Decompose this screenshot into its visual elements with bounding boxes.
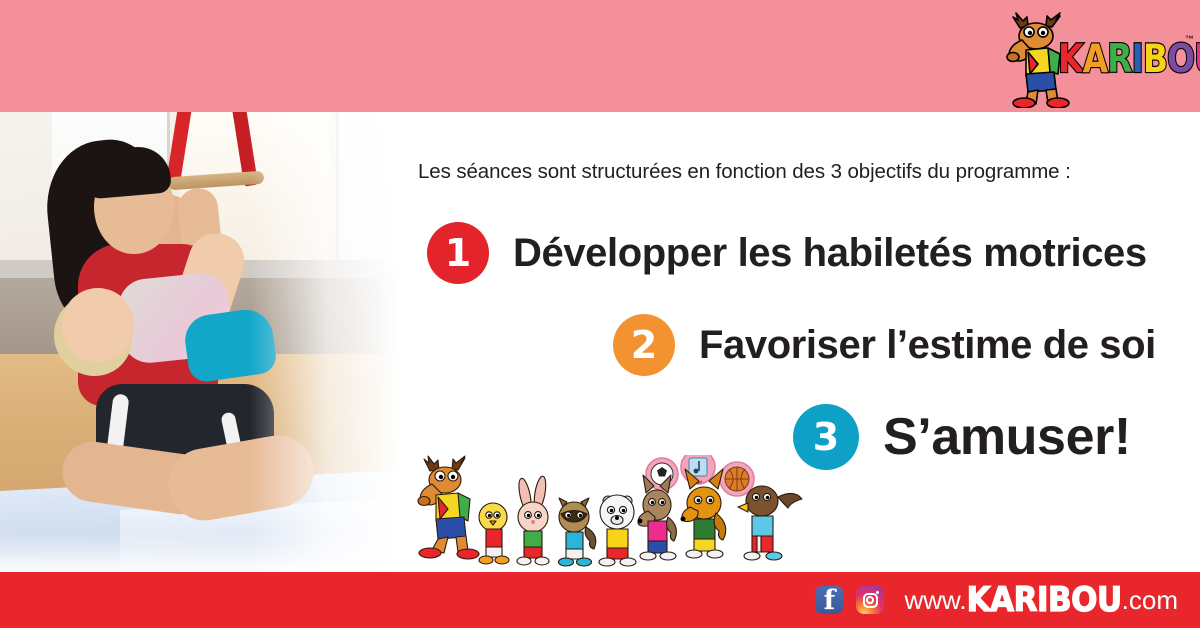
mascot-chick [479, 503, 509, 564]
poster-canvas: LES OBJECTIFS KARIBOU [0, 0, 1200, 628]
logo-wordmark: KARIBOU [1058, 42, 1200, 76]
mascot-characters [400, 455, 820, 575]
website-prefix: www. [904, 585, 966, 616]
karibou-logo[interactable]: KARIBOU ™ [996, 8, 1192, 108]
mascot-eagle [738, 486, 802, 560]
logo-letter-k: K [1058, 39, 1083, 79]
objective-label-2: Favoriser l’estime de soi [699, 323, 1156, 368]
mascot-rabbit [517, 475, 549, 565]
photo-fade-right [250, 112, 420, 572]
objective-item-3: 3 S’amuser! [793, 404, 1131, 470]
logo-letter-b: B [1143, 39, 1167, 79]
website-suffix: .com [1122, 585, 1178, 616]
facebook-glyph: f [815, 584, 843, 616]
objective-label-3: S’amuser! [883, 407, 1131, 467]
objective-label-1: Développer les habiletés motrices [513, 231, 1147, 276]
facebook-icon[interactable]: f [815, 586, 843, 614]
logo-letter-i: I [1132, 39, 1143, 79]
trademark-symbol: ™ [1185, 34, 1194, 44]
objective-item-2: 2 Favoriser l’estime de soi [613, 314, 1156, 376]
logo-letter-a: A [1083, 39, 1108, 79]
intro-text: Les séances sont structurées en fonction… [418, 160, 1178, 184]
mascot-moose [418, 456, 479, 559]
instagram-icon[interactable] [856, 586, 884, 614]
bubble-basketball [720, 462, 754, 496]
logo-letter-u: U [1194, 39, 1200, 79]
logo-letter-r: R [1107, 39, 1131, 79]
photo-fade-bottom [0, 532, 420, 572]
website-brand: KARIBOU [967, 581, 1122, 620]
objective-badge-3: 3 [793, 404, 859, 470]
instagram-dot [876, 591, 879, 594]
mascot-polar-bear [599, 495, 636, 566]
hero-photo [0, 112, 420, 572]
mascot-raccoon [559, 498, 596, 566]
mascot-row [400, 455, 820, 575]
objective-badge-1: 1 [427, 222, 489, 284]
objective-badge-2: 2 [613, 314, 675, 376]
photo-child-head [62, 288, 134, 362]
footer-bar: f www.KARIBOU.com [0, 572, 1200, 628]
objective-item-1: 1 Développer les habiletés motrices [427, 222, 1147, 284]
logo-letter-o: O [1167, 39, 1194, 79]
